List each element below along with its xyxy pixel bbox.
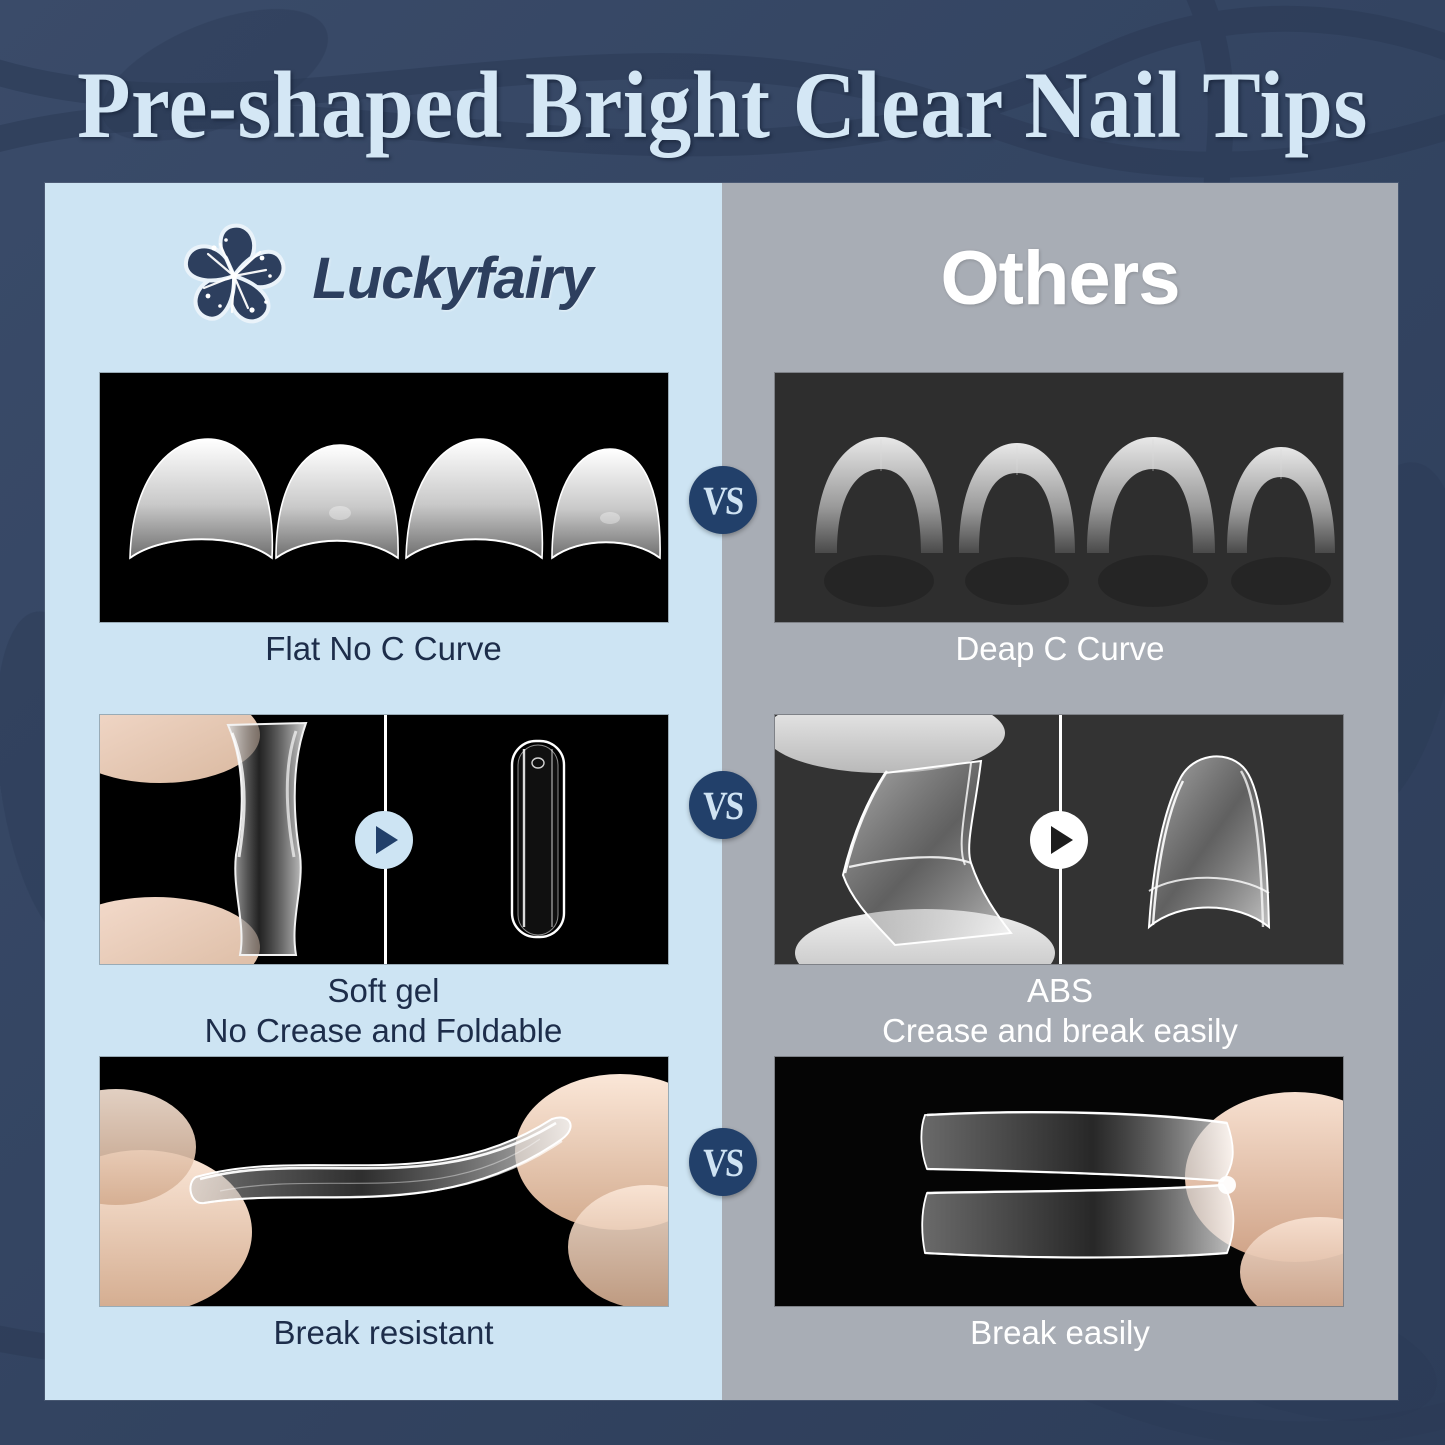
photo-foldable-soft-gel <box>100 715 668 964</box>
play-arrow-icon <box>355 811 413 869</box>
photo-break-resistant <box>100 1057 668 1306</box>
play-arrow-icon <box>1030 811 1088 869</box>
vs-badge: VS <box>689 1128 757 1196</box>
caption-bad-3-line1: Break easily <box>970 1314 1150 1351</box>
caption-bad-1-line1: Deap C Curve <box>955 630 1164 667</box>
brand-header: Luckyfairy <box>45 183 722 373</box>
flower-sparkle-logo-icon <box>174 218 294 338</box>
photo-abs-crease <box>775 715 1343 964</box>
vs-badge-label: VS <box>702 477 745 524</box>
caption-good-1: Flat No C Curve <box>45 629 722 669</box>
column-luckyfairy: Luckyfairy <box>45 183 722 1400</box>
caption-bad-2-line2: Crease and break easily <box>722 1011 1398 1051</box>
vs-badge-label: VS <box>702 1139 745 1186</box>
caption-good-3: Break resistant <box>45 1313 722 1353</box>
caption-good-1-line1: Flat No C Curve <box>265 630 502 667</box>
caption-bad-1: Deap C Curve <box>722 629 1398 669</box>
bad-row-1: Deap C Curve <box>722 373 1398 715</box>
brand-name: Luckyfairy <box>312 245 592 312</box>
photo-break-easily <box>775 1057 1343 1306</box>
vs-badge: VS <box>689 466 757 534</box>
caption-bad-2: ABS Crease and break easily <box>722 971 1398 1050</box>
photo-deep-c-curve-tips <box>775 373 1343 622</box>
good-row-2: Soft gel No Crease and Foldable <box>45 715 722 1057</box>
caption-bad-3: Break easily <box>722 1313 1398 1353</box>
caption-good-3-line1: Break resistant <box>273 1314 493 1351</box>
bad-row-3: Break easily <box>722 1057 1398 1399</box>
vs-badge: VS <box>689 771 757 839</box>
vs-badge-label: VS <box>702 782 745 829</box>
caption-bad-2-line1: ABS <box>1027 972 1093 1009</box>
good-row-1: Flat No C Curve <box>45 373 722 715</box>
column-others: Others <box>722 183 1398 1400</box>
caption-good-2: Soft gel No Crease and Foldable <box>45 971 722 1050</box>
caption-good-2-line2: No Crease and Foldable <box>45 1011 722 1051</box>
others-title: Others <box>941 235 1180 322</box>
others-header: Others <box>722 183 1398 373</box>
photo-flat-nail-tips <box>100 373 668 622</box>
page-title: Pre-shaped Bright Clear Nail Tips <box>0 48 1445 163</box>
bad-row-2: ABS Crease and break easily <box>722 715 1398 1057</box>
good-row-3: Break resistant <box>45 1057 722 1399</box>
page-title-text: Pre-shaped Bright Clear Nail Tips <box>77 58 1368 153</box>
caption-good-2-line1: Soft gel <box>328 972 440 1009</box>
